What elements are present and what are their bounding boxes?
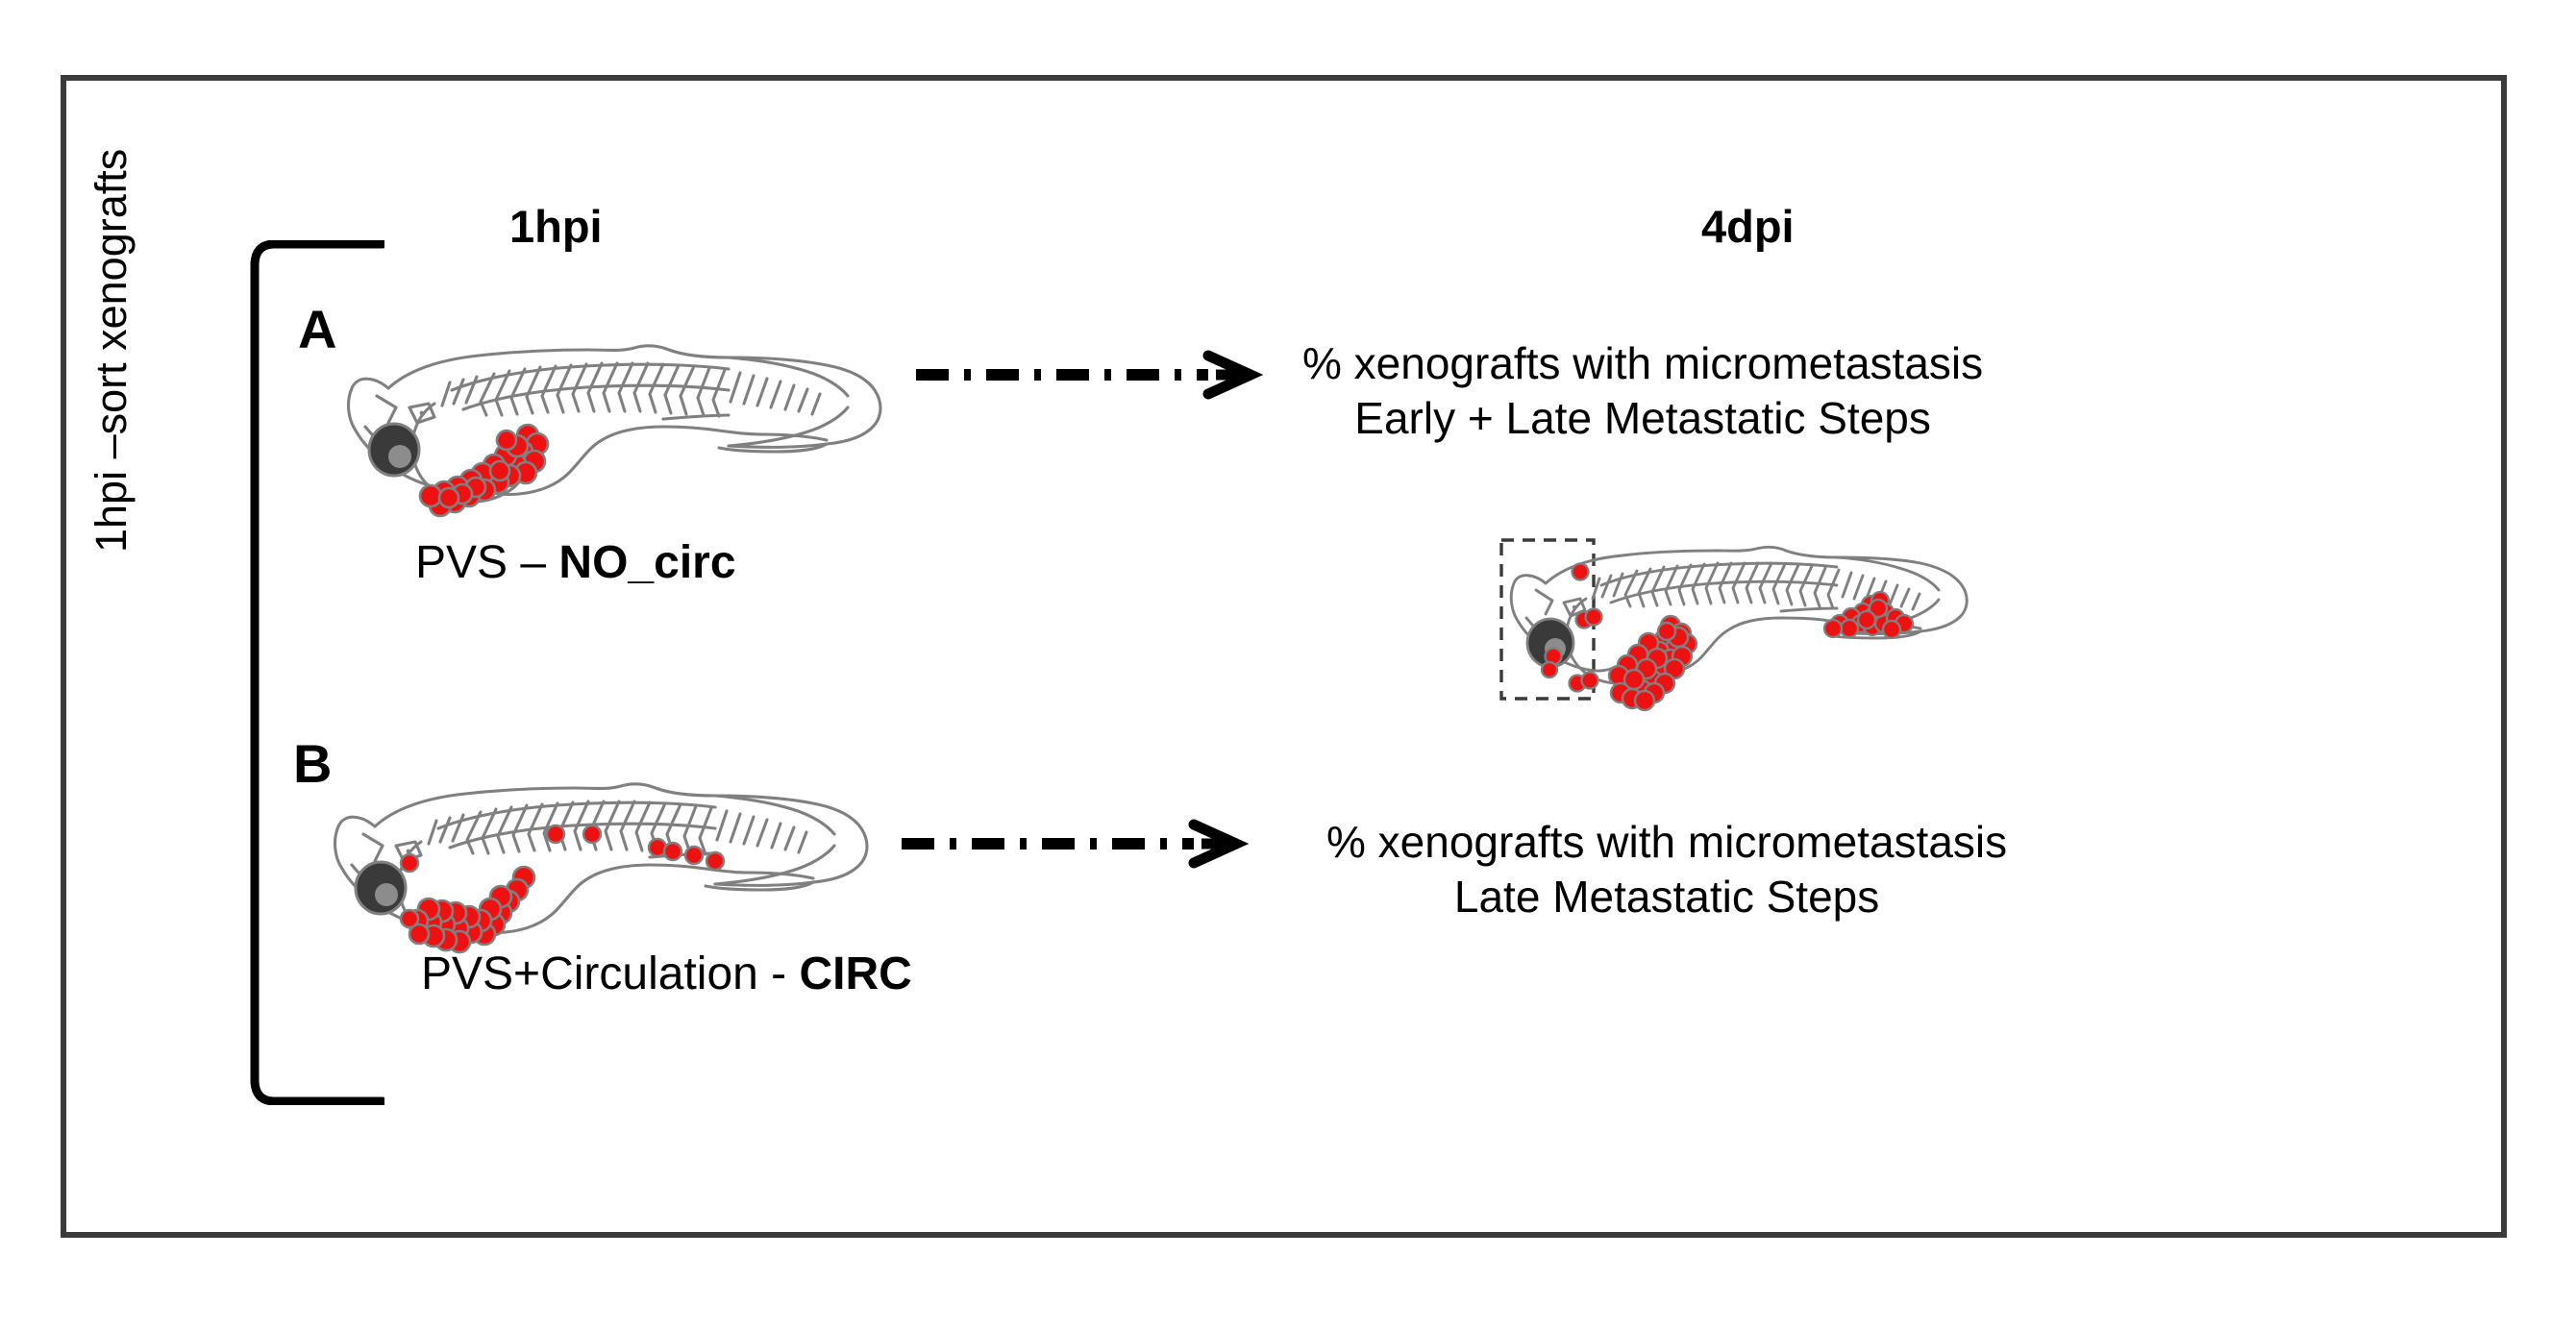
- readout-text-b: % xenografts with micrometastasis Late M…: [1326, 815, 2007, 924]
- zebrafish-larva-icon-panel-a: [317, 327, 913, 519]
- tumor-cell-cluster-pvs: [420, 425, 548, 516]
- column-header-1hpi: 1hpi: [509, 200, 603, 253]
- tumor-cell-cluster-pvs: [401, 867, 534, 952]
- zebrafish-larva-icon-panel-b: [306, 759, 902, 961]
- column-header-4dpi: 4dpi: [1701, 200, 1795, 253]
- readout-a-line-2: Early + Late Metastatic Steps: [1302, 391, 1983, 446]
- dash-dot-arrow-icon-b: [894, 805, 1278, 873]
- figure-frame: [61, 75, 2507, 1238]
- condition-emphasis-b: CIRC: [800, 948, 912, 999]
- micrometastasis-cell-cluster: [1824, 592, 1913, 638]
- readout-a-line-1: % xenografts with micrometastasis: [1302, 336, 1983, 391]
- dash-dot-arrow-icon-a: [908, 336, 1293, 404]
- readout-text-a: % xenografts with micrometastasis Early …: [1302, 336, 1983, 446]
- condition-caption-a: PVS – NO_circ: [415, 536, 736, 589]
- condition-caption-b: PVS+Circulation - CIRC: [421, 948, 912, 1000]
- readout-b-line-1: % xenografts with micrometastasis: [1326, 815, 2007, 870]
- zebrafish-larva-icon-4dpi: [1488, 524, 2045, 716]
- figure-root: 1hpi 4dpi 1hpi –sort xenografts A B: [0, 0, 2576, 1330]
- readout-b-line-2: Late Metastatic Steps: [1326, 870, 2007, 924]
- condition-prefix-a: PVS –: [415, 537, 558, 588]
- condition-prefix-b: PVS+Circulation -: [421, 948, 800, 999]
- primary-tumor-cell-cluster: [1609, 616, 1697, 710]
- group-label-vertical: 1hpi –sort xenografts: [87, 149, 136, 553]
- condition-emphasis-a: NO_circ: [558, 537, 735, 588]
